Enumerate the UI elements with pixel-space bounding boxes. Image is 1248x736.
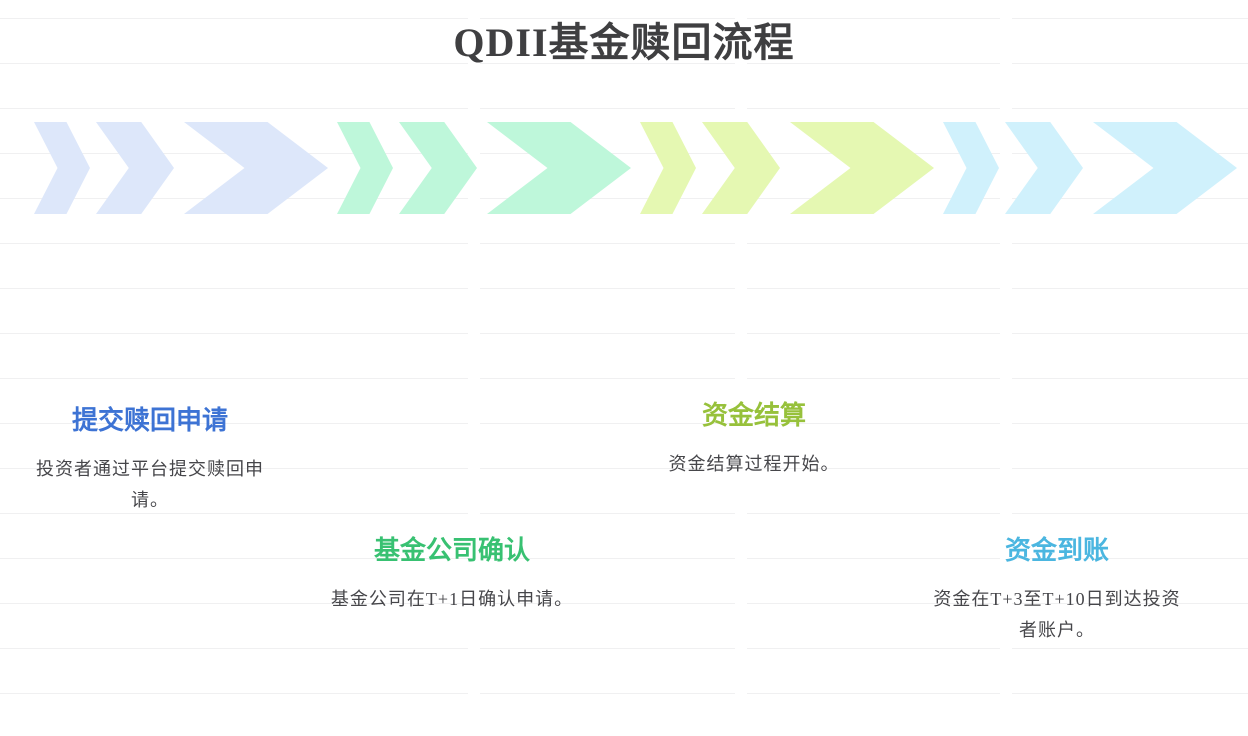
rule-segment bbox=[480, 648, 735, 649]
rule-gap bbox=[468, 333, 480, 334]
rule-segment bbox=[1012, 333, 1248, 334]
page-title: QDII基金赎回流程 bbox=[0, 14, 1248, 72]
rule-segment bbox=[0, 333, 468, 334]
rule-line bbox=[0, 243, 1248, 244]
rule-gap bbox=[1000, 288, 1012, 289]
chevron-arrow-icon bbox=[1093, 122, 1237, 214]
rule-line bbox=[0, 378, 1248, 379]
rule-segment bbox=[1012, 648, 1248, 649]
step-caption-1: 提交赎回申请 投资者通过平台提交赎回申请。 bbox=[18, 402, 282, 516]
rule-segment bbox=[747, 333, 1000, 334]
rule-segment bbox=[480, 108, 735, 109]
rule-line bbox=[0, 648, 1248, 649]
step-description-1: 投资者通过平台提交赎回申请。 bbox=[18, 454, 282, 516]
rule-segment bbox=[0, 648, 468, 649]
rule-segment bbox=[747, 648, 1000, 649]
rule-segment bbox=[1012, 693, 1248, 694]
rule-gap bbox=[1000, 648, 1012, 649]
step-description-4: 资金在T+3至T+10日到达投资者账户。 bbox=[925, 584, 1189, 646]
rule-gap bbox=[468, 243, 480, 244]
rule-segment bbox=[747, 513, 1000, 514]
chevron-arrow-icon bbox=[790, 122, 934, 214]
step-caption-4: 资金到账 资金在T+3至T+10日到达投资者账户。 bbox=[925, 532, 1189, 646]
rule-gap bbox=[735, 558, 747, 559]
rule-gap bbox=[1000, 423, 1012, 424]
rule-segment bbox=[1012, 468, 1248, 469]
rule-segment bbox=[480, 513, 735, 514]
rule-segment bbox=[747, 693, 1000, 694]
rule-gap bbox=[1000, 378, 1012, 379]
chevron-arrow-icon bbox=[640, 122, 696, 214]
rule-segment bbox=[1012, 513, 1248, 514]
rule-segment bbox=[747, 243, 1000, 244]
rule-gap bbox=[1000, 243, 1012, 244]
rule-segment bbox=[747, 288, 1000, 289]
chevron-group-3 bbox=[640, 122, 934, 214]
rule-line bbox=[0, 693, 1248, 694]
rule-gap bbox=[735, 243, 747, 244]
rule-gap bbox=[735, 378, 747, 379]
rule-gap bbox=[1000, 693, 1012, 694]
rule-segment bbox=[480, 333, 735, 334]
chevron-arrow-icon bbox=[96, 122, 174, 214]
step-description-2: 基金公司在T+1日确认申请。 bbox=[320, 584, 584, 615]
rule-segment bbox=[480, 693, 735, 694]
rule-segment bbox=[0, 693, 468, 694]
rule-segment bbox=[480, 378, 735, 379]
rule-line bbox=[0, 108, 1248, 109]
rule-gap bbox=[468, 693, 480, 694]
rule-gap bbox=[1000, 468, 1012, 469]
rule-gap bbox=[735, 333, 747, 334]
rule-gap bbox=[468, 648, 480, 649]
chevron-arrow-band bbox=[0, 122, 1248, 214]
rule-segment bbox=[1012, 108, 1248, 109]
chevron-arrow-icon bbox=[184, 122, 328, 214]
rule-segment bbox=[1012, 243, 1248, 244]
chevron-arrow-icon bbox=[1005, 122, 1083, 214]
rule-segment bbox=[480, 243, 735, 244]
rule-segment bbox=[0, 108, 468, 109]
flow-diagram-page: QDII基金赎回流程 提交赎回申请 投资者通过平台提交赎回申请。 基金公司确认 … bbox=[0, 0, 1248, 736]
chevron-arrow-icon bbox=[337, 122, 393, 214]
rule-line bbox=[0, 333, 1248, 334]
rule-segment bbox=[747, 108, 1000, 109]
chevron-arrow-icon bbox=[487, 122, 631, 214]
rule-gap bbox=[468, 378, 480, 379]
step-title-1: 提交赎回申请 bbox=[18, 402, 282, 440]
rule-segment bbox=[1012, 378, 1248, 379]
step-title-4: 资金到账 bbox=[925, 532, 1189, 570]
rule-gap bbox=[735, 108, 747, 109]
chevron-arrow-icon bbox=[34, 122, 90, 214]
step-title-2: 基金公司确认 bbox=[320, 532, 584, 570]
rule-gap bbox=[1000, 108, 1012, 109]
rule-gap bbox=[468, 423, 480, 424]
chevron-arrow-icon bbox=[702, 122, 780, 214]
step-caption-2: 基金公司确认 基金公司在T+1日确认申请。 bbox=[320, 532, 584, 615]
rule-gap bbox=[1000, 333, 1012, 334]
rule-gap bbox=[735, 648, 747, 649]
rule-gap bbox=[735, 288, 747, 289]
rule-gap bbox=[468, 108, 480, 109]
rule-gap bbox=[468, 468, 480, 469]
step-title-3: 资金结算 bbox=[622, 397, 886, 435]
step-caption-3: 资金结算 资金结算过程开始。 bbox=[622, 397, 886, 480]
rule-gap bbox=[468, 513, 480, 514]
chevron-group-1 bbox=[34, 122, 328, 214]
rule-gap bbox=[735, 603, 747, 604]
chevron-group-4 bbox=[943, 122, 1237, 214]
rule-gap bbox=[468, 288, 480, 289]
rule-segment bbox=[1012, 423, 1248, 424]
rule-line bbox=[0, 288, 1248, 289]
rule-segment bbox=[1012, 288, 1248, 289]
chevron-arrow-icon bbox=[399, 122, 477, 214]
rule-segment bbox=[0, 378, 468, 379]
step-description-3: 资金结算过程开始。 bbox=[622, 449, 886, 480]
rule-gap bbox=[1000, 513, 1012, 514]
rule-segment bbox=[480, 288, 735, 289]
rule-gap bbox=[735, 693, 747, 694]
rule-gap bbox=[735, 513, 747, 514]
rule-segment bbox=[0, 288, 468, 289]
chevron-arrow-icon bbox=[943, 122, 999, 214]
chevron-group-2 bbox=[337, 122, 631, 214]
rule-segment bbox=[747, 378, 1000, 379]
rule-segment bbox=[0, 243, 468, 244]
